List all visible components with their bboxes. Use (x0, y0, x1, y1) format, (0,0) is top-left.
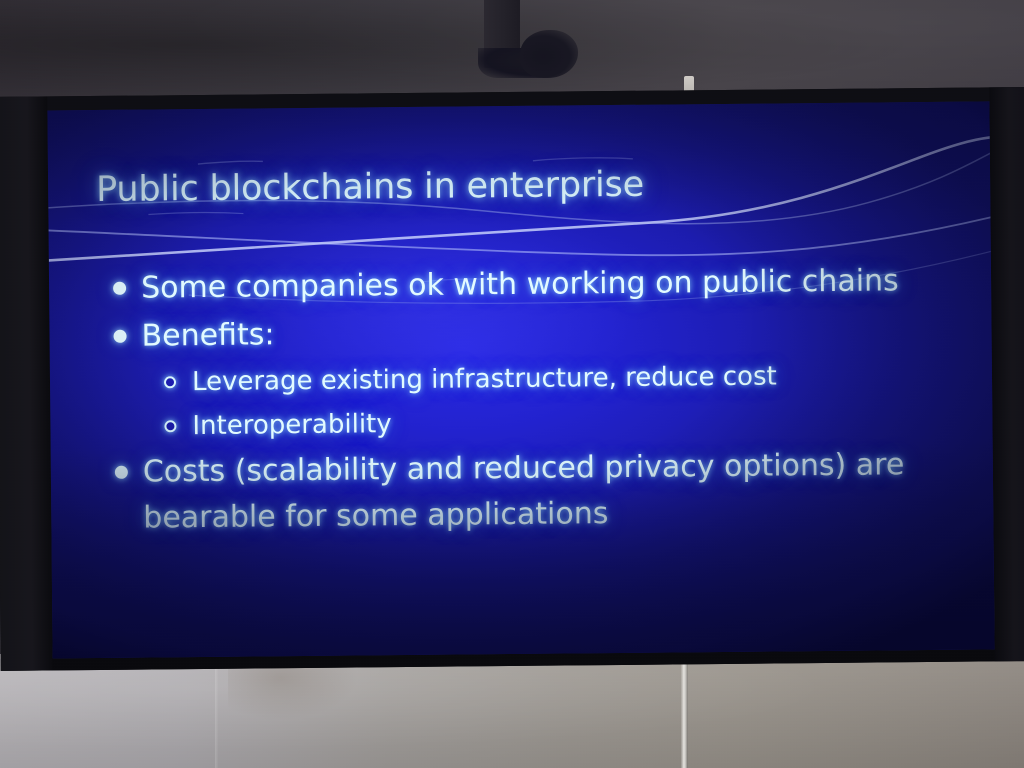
bullet-circle-outline-icon (148, 361, 192, 388)
wall-lower (0, 654, 1024, 768)
bullet-disc-icon (99, 450, 143, 479)
bullet-text: Some companies ok with working on public… (141, 258, 899, 311)
bullet-disc-icon (97, 314, 141, 343)
sub-bullet-item: Interoperability (98, 398, 954, 448)
sub-bullet-item: Leverage existing infrastructure, reduce… (98, 354, 954, 404)
bullet-circle-outline-icon (148, 405, 192, 432)
bullet-disc-icon (97, 266, 141, 295)
bullet-item: Some companies ok with working on public… (97, 258, 953, 312)
wall-mounted-display: Public blockchains in enterprise Some co… (0, 87, 1024, 671)
bullet-text: Benefits: (141, 312, 274, 359)
photograph-of-meeting-room-display: Public blockchains in enterprise Some co… (0, 0, 1024, 768)
wall-panel-seam-left (215, 658, 218, 768)
sub-bullet-text: Interoperability (192, 403, 392, 447)
presentation-slide: Public blockchains in enterprise Some co… (47, 101, 994, 658)
display-bezel-left (0, 96, 53, 670)
wall-lower-shading (0, 654, 1024, 768)
sub-bullet-text: Leverage existing infrastructure, reduce… (192, 355, 777, 403)
wall-panel-seam-right (681, 656, 688, 768)
wall-smudge (228, 660, 358, 720)
bullet-item: Costs (scalability and reduced privacy o… (99, 442, 956, 542)
slide-title: Public blockchains in enterprise (96, 165, 644, 210)
display-bezel-right (989, 87, 1024, 661)
slide-content: Public blockchains in enterprise Some co… (47, 101, 994, 658)
bullet-text: Costs (scalability and reduced privacy o… (143, 442, 934, 542)
bullet-item: Benefits: (97, 306, 953, 360)
slide-bullet-list: Some companies ok with working on public… (97, 258, 956, 544)
